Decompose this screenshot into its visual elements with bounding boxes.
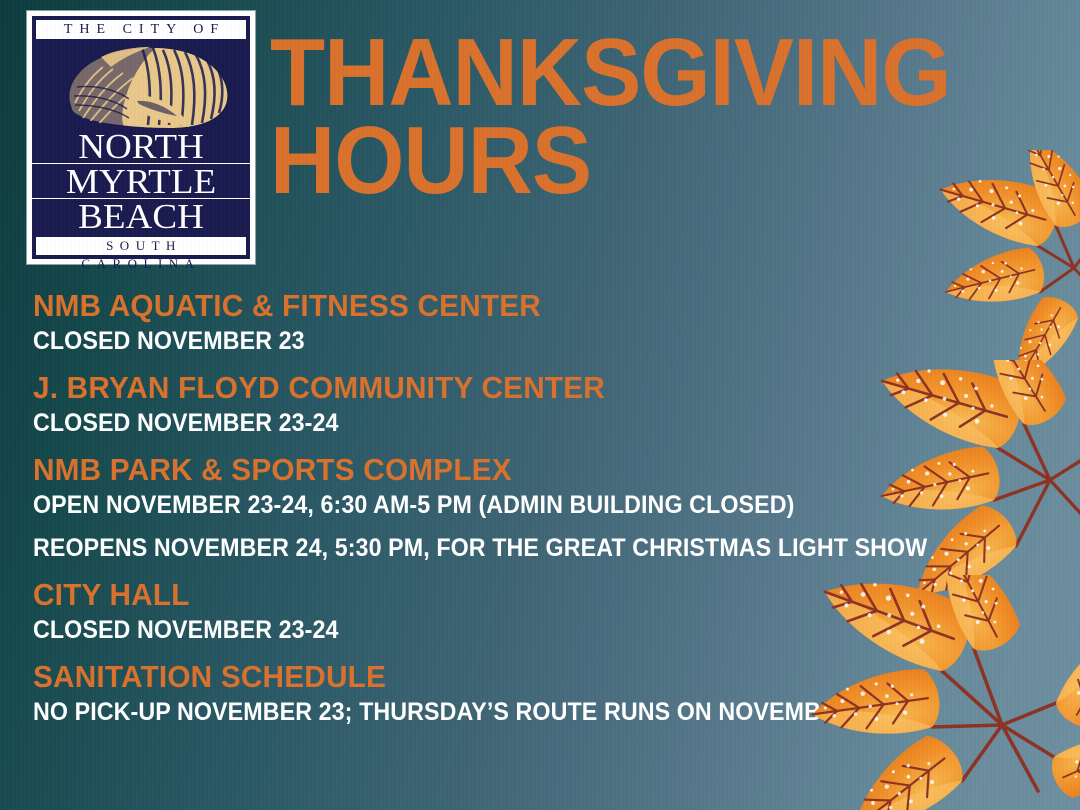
section-heading: NMB PARK & SPORTS COMPLEX [33, 451, 887, 488]
logo-name-line-1: NORTH [31, 129, 251, 163]
section-detail: CLOSED NOVEMBER 23-24 [33, 615, 861, 646]
section-heading: J. BRYAN FLOYD COMMUNITY CENTER [33, 369, 887, 406]
logo-bottom-band: SOUTH CAROLINA [35, 236, 247, 256]
section-heading: CITY HALL [33, 576, 887, 613]
page-title-line-1: THANKSGIVING [270, 29, 1003, 117]
section-detail: CLOSED NOVEMBER 23 [33, 326, 861, 357]
schedule-section-park-sports-complex: NMB PARK & SPORTS COMPLEX OPEN NOVEMBER … [33, 451, 923, 564]
section-detail: REOPENS NOVEMBER 24, 5:30 PM, FOR THE GR… [33, 533, 861, 564]
logo-name-line-2: MYRTLE [31, 163, 251, 198]
section-detail: NO PICK-UP NOVEMBER 23; THURSDAY’S ROUTE… [33, 697, 861, 728]
city-seal-logo: THE CITY OF [27, 11, 255, 264]
logo-top-band: THE CITY OF [35, 19, 247, 40]
schedule-section-j-bryan-floyd-community-center: J. BRYAN FLOYD COMMUNITY CENTER CLOSED N… [33, 369, 923, 439]
thanksgiving-hours-poster: THE CITY OF [0, 0, 1080, 810]
logo-city-name: NORTH MYRTLE BEACH [35, 129, 247, 234]
section-detail: CLOSED NOVEMBER 23-24 [33, 408, 861, 439]
section-heading: SANITATION SCHEDULE [33, 658, 887, 695]
page-title: THANKSGIVING HOURS [270, 29, 1003, 205]
logo-name-line-3: BEACH [31, 198, 251, 233]
schedule-section-city-hall: CITY HALL CLOSED NOVEMBER 23-24 [33, 576, 923, 646]
section-heading: NMB AQUATIC & FITNESS CENTER [33, 287, 887, 324]
schedule-section-aquatic-fitness-center: NMB AQUATIC & FITNESS CENTER CLOSED NOVE… [33, 287, 923, 357]
schedule-list: NMB AQUATIC & FITNESS CENTER CLOSED NOVE… [33, 287, 923, 740]
schedule-section-sanitation-schedule: SANITATION SCHEDULE NO PICK-UP NOVEMBER … [33, 658, 923, 728]
logo-inner-panel: THE CITY OF [32, 16, 250, 259]
conch-shell-icon [35, 40, 247, 129]
page-title-line-2: HOURS [270, 117, 1003, 205]
section-detail: OPEN NOVEMBER 23-24, 6:30 AM-5 PM (ADMIN… [33, 490, 861, 521]
